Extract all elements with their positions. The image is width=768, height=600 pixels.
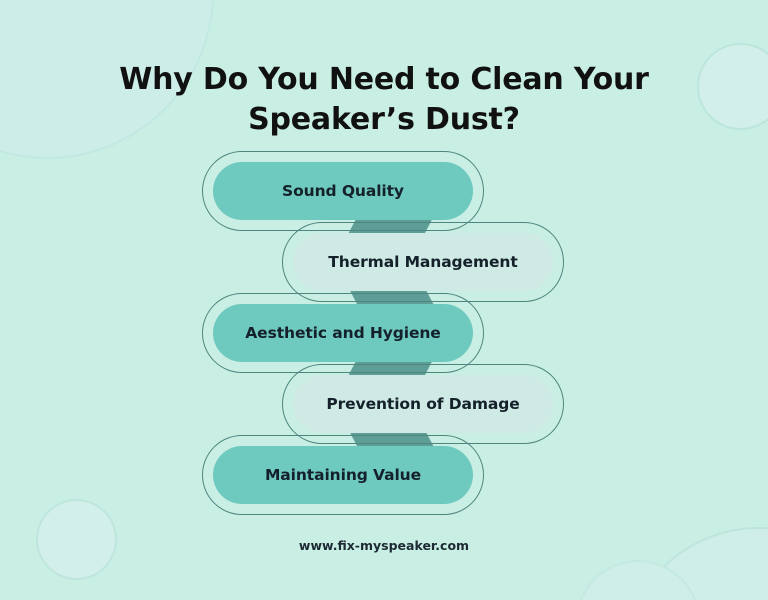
- flow-step-label: Thermal Management: [328, 253, 517, 271]
- flow-step-label: Sound Quality: [282, 182, 404, 200]
- flow-chart: Sound Quality Thermal Management Aesthet…: [0, 0, 768, 600]
- flow-step-label: Aesthetic and Hygiene: [245, 324, 440, 342]
- flow-step-label: Prevention of Damage: [326, 395, 519, 413]
- flow-step-prevention-of-damage[interactable]: Prevention of Damage: [293, 375, 553, 433]
- flow-step-label: Maintaining Value: [265, 466, 421, 484]
- flow-step-sound-quality[interactable]: Sound Quality: [213, 162, 473, 220]
- infographic-poster: Why Do You Need to Clean Your Speaker’s …: [0, 0, 768, 600]
- flow-step-thermal-management[interactable]: Thermal Management: [293, 233, 553, 291]
- flow-step-aesthetic-and-hygiene[interactable]: Aesthetic and Hygiene: [213, 304, 473, 362]
- flow-step-maintaining-value[interactable]: Maintaining Value: [213, 446, 473, 504]
- footer-url[interactable]: www.fix-myspeaker.com: [0, 538, 768, 553]
